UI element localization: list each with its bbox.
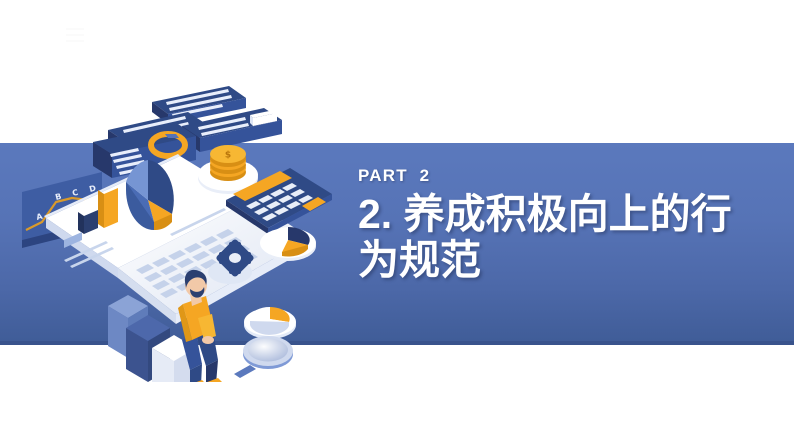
part-label: PART 2 bbox=[358, 166, 778, 186]
coin-dollar-symbol: $ bbox=[225, 151, 231, 161]
illustration-container: A B C D bbox=[20, 72, 350, 377]
slide-canvas: A B C D bbox=[0, 0, 794, 447]
heading-block: PART 2 2. 养成积极向上的行为规范 bbox=[358, 166, 778, 284]
pie-disc-right-lower bbox=[244, 307, 296, 339]
page-title: 2. 养成积极向上的行为规范 bbox=[358, 192, 758, 284]
magnifying-glass bbox=[234, 336, 293, 378]
watermark-artifact bbox=[66, 28, 84, 42]
